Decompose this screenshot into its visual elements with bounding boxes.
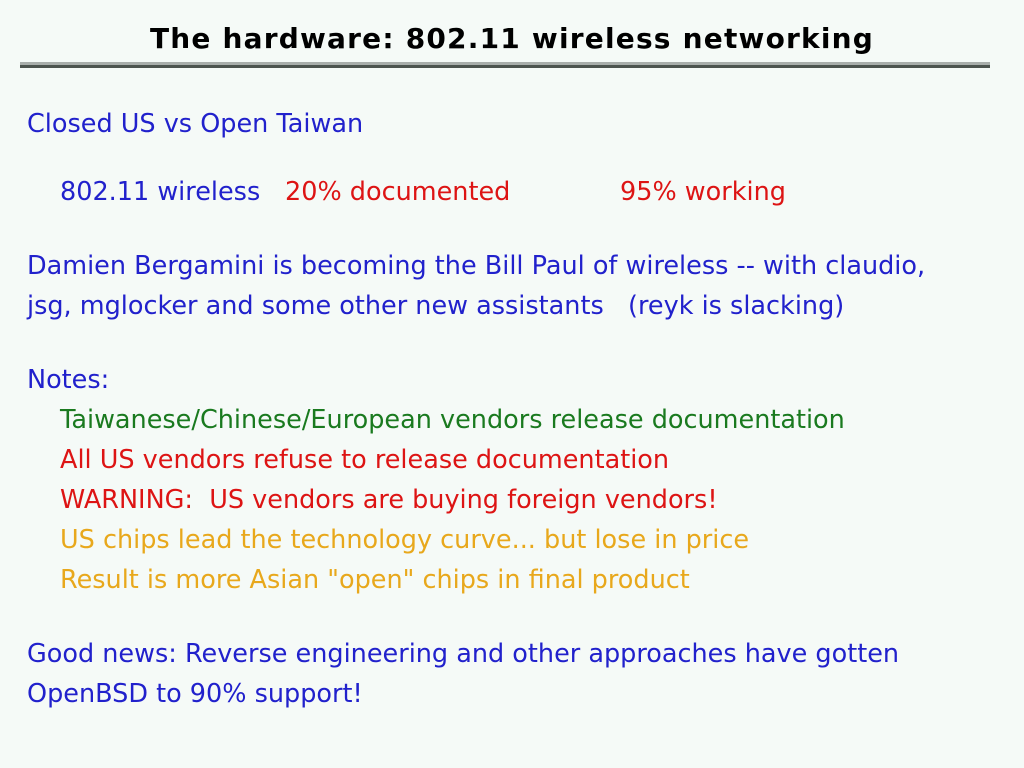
- section-heading: Closed US vs Open Taiwan: [0, 104, 1024, 144]
- good-news-paragraph: Good news: Reverse engineering and other…: [0, 634, 1024, 714]
- notes-item-us-chips-price: US chips lead the technology curve... bu…: [0, 520, 1024, 560]
- divider-shadow: [20, 65, 990, 68]
- title-divider: [20, 62, 990, 68]
- notes-block: Notes: Taiwanese/Chinese/European vendor…: [0, 360, 1024, 600]
- notes-heading: Notes:: [0, 360, 1024, 400]
- spacer: [0, 600, 1024, 634]
- people-paragraph: Damien Bergamini is becoming the Bill Pa…: [0, 246, 1024, 326]
- status-row-documented: 20% documented: [285, 172, 620, 212]
- slide: The hardware: 802.11 wireless networking…: [0, 0, 1024, 768]
- good-news-line-1: Good news: Reverse engineering and other…: [0, 634, 1024, 674]
- status-row-working: 95% working: [620, 172, 786, 212]
- spacer: [0, 212, 1024, 246]
- spacer: [0, 326, 1024, 360]
- spacer: [0, 144, 1024, 172]
- status-row-label: 802.11 wireless: [60, 172, 285, 212]
- people-paragraph-line-2: jsg, mglocker and some other new assista…: [0, 286, 1024, 326]
- slide-body: Closed US vs Open Taiwan 802.11 wireless…: [0, 104, 1024, 714]
- page-title: The hardware: 802.11 wireless networking: [0, 22, 1024, 55]
- notes-item-us-vendors-refuse: All US vendors refuse to release documen…: [0, 440, 1024, 480]
- notes-item-warning-buyouts: WARNING: US vendors are buying foreign v…: [0, 480, 1024, 520]
- notes-item-asian-open-chips: Result is more Asian "open" chips in fin…: [0, 560, 1024, 600]
- notes-item-taiwanese-vendors: Taiwanese/Chinese/European vendors relea…: [0, 400, 1024, 440]
- good-news-line-2: OpenBSD to 90% support!: [0, 674, 1024, 714]
- status-row: 802.11 wireless 20% documented 95% worki…: [0, 172, 1024, 212]
- people-paragraph-line-1: Damien Bergamini is becoming the Bill Pa…: [0, 246, 1024, 286]
